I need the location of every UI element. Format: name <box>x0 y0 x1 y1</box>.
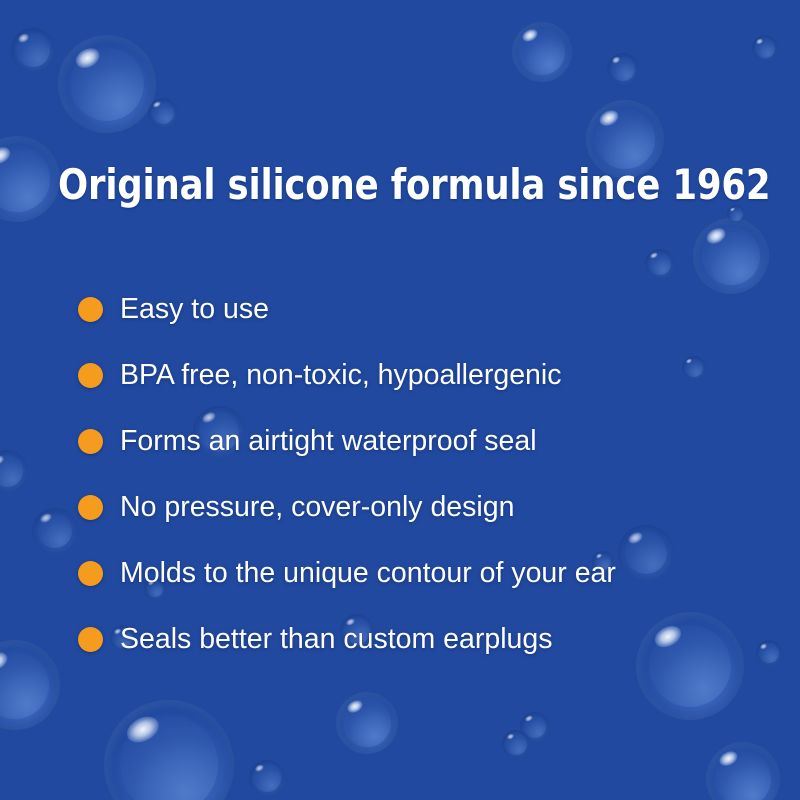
feature-label: Seals better than custom earplugs <box>120 625 553 654</box>
list-item: No pressure, cover-only design <box>78 474 616 540</box>
bullet-dot-icon <box>78 495 103 520</box>
feature-label: Easy to use <box>120 295 269 324</box>
bullet-dot-icon <box>78 627 103 652</box>
feature-label: BPA free, non-toxic, hypoallergenic <box>120 361 561 390</box>
promo-graphic: Original silicone formula since 1962 Eas… <box>0 0 800 800</box>
feature-list: Easy to useBPA free, non-toxic, hypoalle… <box>78 276 616 672</box>
page-title: Original silicone formula since 1962 <box>58 160 770 209</box>
feature-label: Molds to the unique contour of your ear <box>120 559 616 588</box>
bullet-dot-icon <box>78 297 103 322</box>
feature-label: Forms an airtight waterproof seal <box>120 427 537 456</box>
bullet-dot-icon <box>78 429 103 454</box>
bullet-dot-icon <box>78 561 103 586</box>
list-item: Seals better than custom earplugs <box>78 606 616 672</box>
content-layer: Original silicone formula since 1962 Eas… <box>0 0 800 800</box>
feature-label: No pressure, cover-only design <box>120 493 514 522</box>
list-item: BPA free, non-toxic, hypoallergenic <box>78 342 616 408</box>
list-item: Molds to the unique contour of your ear <box>78 540 616 606</box>
bullet-dot-icon <box>78 363 103 388</box>
list-item: Easy to use <box>78 276 616 342</box>
list-item: Forms an airtight waterproof seal <box>78 408 616 474</box>
